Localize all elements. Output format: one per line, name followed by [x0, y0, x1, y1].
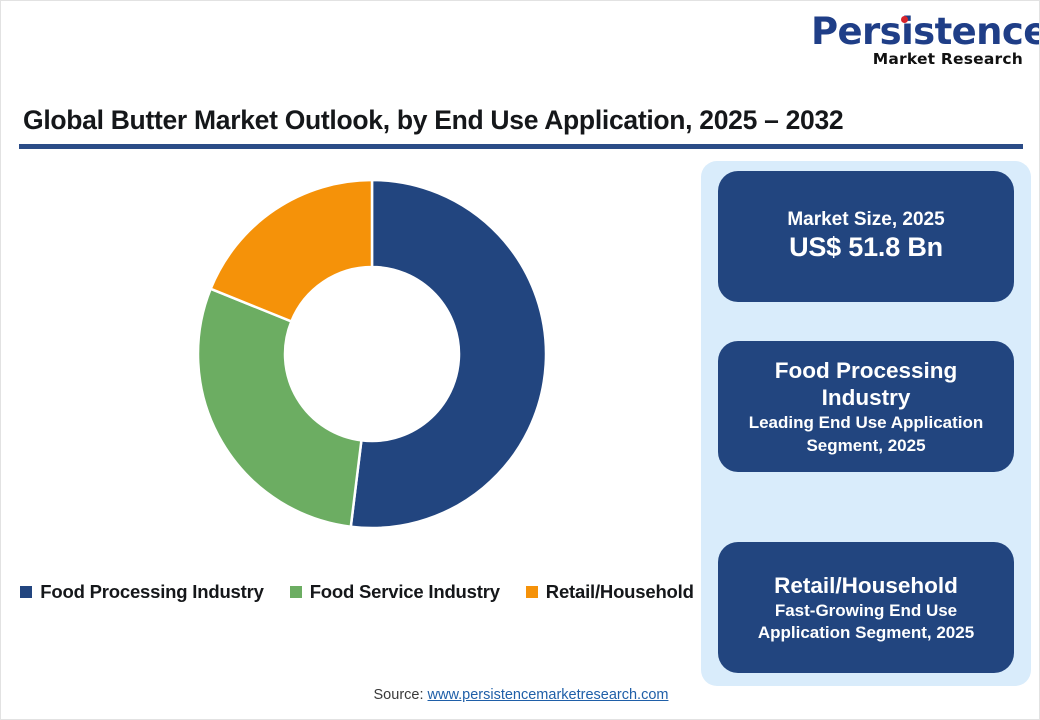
- legend-swatch-icon: [290, 586, 302, 598]
- brand-tagline: Market Research: [811, 52, 1023, 68]
- legend-swatch-icon: [20, 586, 32, 598]
- legend-label: Retail/Household: [546, 581, 694, 603]
- brand-name: Persistence: [811, 13, 1040, 50]
- card-kicker: Market Size, 2025: [787, 209, 944, 232]
- card-value: US$ 51.8 Bn: [789, 231, 943, 264]
- card-subline-2: Application Segment, 2025: [758, 622, 974, 643]
- highlight-card-leading-segment: Food Processing Industry Leading End Use…: [718, 341, 1014, 472]
- card-subline-1: Fast-Growing End Use: [775, 600, 957, 621]
- source-prefix: Source:: [374, 687, 428, 703]
- legend-item: Food Service Industry: [290, 581, 500, 603]
- donut-chart-svg: [13, 161, 701, 581]
- donut-chart: [13, 161, 701, 581]
- highlight-card-fastest-growing-segment: Retail/Household Fast-Growing End Use Ap…: [718, 542, 1014, 673]
- page-title: Global Butter Market Outlook, by End Use…: [23, 105, 843, 136]
- donut-slice-group: [198, 180, 546, 528]
- donut-slice: [351, 180, 546, 528]
- source-link[interactable]: www.persistencemarketresearch.com: [428, 687, 669, 703]
- title-divider: [19, 144, 1023, 149]
- legend-label: Food Processing Industry: [40, 581, 263, 603]
- source-line: Source: www.persistencemarketresearch.co…: [1, 687, 1040, 703]
- legend-swatch-icon: [526, 586, 538, 598]
- card-subline-2: Segment, 2025: [806, 435, 925, 456]
- card-subline-1: Leading End Use Application: [749, 412, 984, 433]
- legend-item: Food Processing Industry: [20, 581, 263, 603]
- brand-logo: Persistence Market Research: [811, 13, 1023, 68]
- highlight-card-market-size: Market Size, 2025 US$ 51.8 Bn: [718, 171, 1014, 302]
- legend-item: Retail/Household: [526, 581, 694, 603]
- card-headline: Retail/Household: [774, 572, 958, 599]
- highlight-panel: Market Size, 2025 US$ 51.8 Bn Food Proce…: [701, 161, 1031, 686]
- chart-legend: Food Processing IndustryFood Service Ind…: [13, 581, 701, 603]
- brand-dot-icon: [901, 16, 908, 23]
- card-headline: Food Processing Industry: [732, 357, 1000, 411]
- donut-slice: [198, 289, 361, 527]
- brand-name-text: Persistence: [811, 10, 1040, 53]
- legend-label: Food Service Industry: [310, 581, 500, 603]
- infographic-page: Persistence Market Research Global Butte…: [0, 0, 1040, 720]
